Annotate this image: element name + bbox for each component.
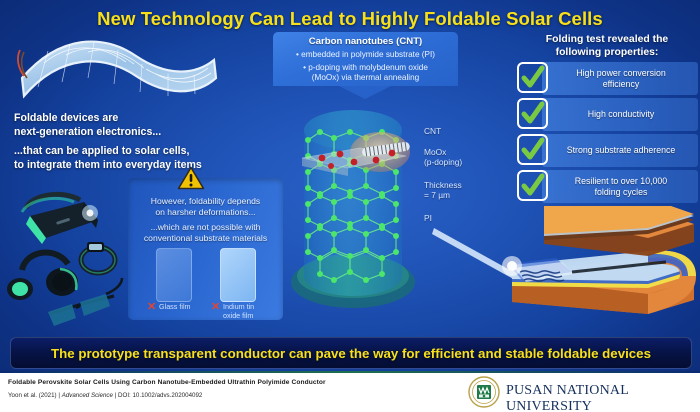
property-label: High power conversion efficiency bbox=[550, 62, 692, 95]
diagram-label-cnt: CNT bbox=[424, 126, 441, 136]
ito-film-swatch bbox=[220, 248, 256, 302]
citation-separator-1: | bbox=[58, 392, 60, 399]
folded-layer-stack-icon bbox=[498, 206, 698, 326]
check-mark-icon bbox=[516, 61, 549, 94]
warning-text-2: ...which are not possible with conventio… bbox=[130, 222, 281, 244]
left-intro-text-2: ...that can be applied to solar cells, t… bbox=[14, 145, 202, 172]
bottom-banner: The prototype transparent conductor can … bbox=[10, 337, 692, 369]
citation-doi: DOI: 10.1002/advs.202004092 bbox=[118, 392, 202, 399]
citation-separator-2: | bbox=[115, 392, 117, 399]
paper-title: Foldable Perovskite Solar Cells Using Ca… bbox=[8, 379, 326, 386]
cnt-bullet-1: • embedded in polymide substrate (PI) bbox=[273, 50, 458, 60]
flexible-solar-panel-icon bbox=[8, 30, 223, 112]
citation-journal: Advanced Science bbox=[62, 392, 113, 399]
warning-text-1: However, foldability depends on harsher … bbox=[130, 196, 281, 218]
page-title: New Technology Can Lead to Highly Foldab… bbox=[0, 8, 700, 30]
footer: Foldable Perovskite Solar Cells Using Ca… bbox=[0, 371, 700, 412]
citation-authors: Yoon et al. (2021) bbox=[8, 392, 57, 399]
diagram-label-thickness: Thickness = 7 µm bbox=[424, 180, 462, 200]
ito-film-label: Indium tin oxide film bbox=[223, 303, 254, 320]
check-mark-icon bbox=[516, 133, 549, 166]
property-label: Resilient to over 10,000 folding cycles bbox=[550, 170, 692, 203]
property-row: Strong substrate adherence bbox=[516, 134, 698, 167]
warning-triangle-icon bbox=[177, 166, 205, 190]
check-mark-icon bbox=[516, 169, 549, 202]
check-mark-icon bbox=[516, 97, 549, 130]
cnt-callout-title: Carbon nanotubes (CNT) bbox=[273, 36, 458, 47]
property-label: Strong substrate adherence bbox=[550, 134, 692, 167]
property-row: High conductivity bbox=[516, 98, 698, 131]
cnt-callout-box: Carbon nanotubes (CNT) • embedded in pol… bbox=[273, 32, 458, 94]
glass-film-label: Glass film bbox=[159, 303, 191, 312]
left-intro-text-1: Foldable devices are next-generation ele… bbox=[14, 112, 161, 139]
banner-text: The prototype transparent conductor can … bbox=[51, 346, 651, 361]
glass-film-swatch bbox=[156, 248, 192, 302]
carbon-nanotube-lattice-icon bbox=[288, 96, 418, 321]
footer-divider bbox=[0, 371, 700, 373]
property-row: High power conversion efficiency bbox=[516, 62, 698, 95]
cnt-bullet-2: • p-doping with molybdenum oxide (MoOx) … bbox=[273, 63, 458, 83]
diagram-label-moox: MoOx (p-doping) bbox=[424, 147, 462, 167]
folding-test-heading: Folding test revealed the following prop… bbox=[517, 33, 697, 59]
infographic-root: New Technology Can Lead to Highly Foldab… bbox=[0, 0, 700, 412]
university-name: PUSAN NATIONAL UNIVERSITY bbox=[506, 383, 700, 412]
pusan-national-university-seal-icon bbox=[468, 376, 500, 408]
wearable-devices-icon bbox=[2, 186, 130, 328]
property-label: High conductivity bbox=[550, 98, 692, 131]
x-mark-icon-ito: ✕ bbox=[211, 302, 220, 313]
x-mark-icon-glass: ✕ bbox=[147, 302, 156, 313]
diagram-label-pi: PI bbox=[424, 213, 432, 223]
property-row: Resilient to over 10,000 folding cycles bbox=[516, 170, 698, 203]
paper-citation: Yoon et al. (2021) | Advanced Science | … bbox=[8, 392, 202, 399]
